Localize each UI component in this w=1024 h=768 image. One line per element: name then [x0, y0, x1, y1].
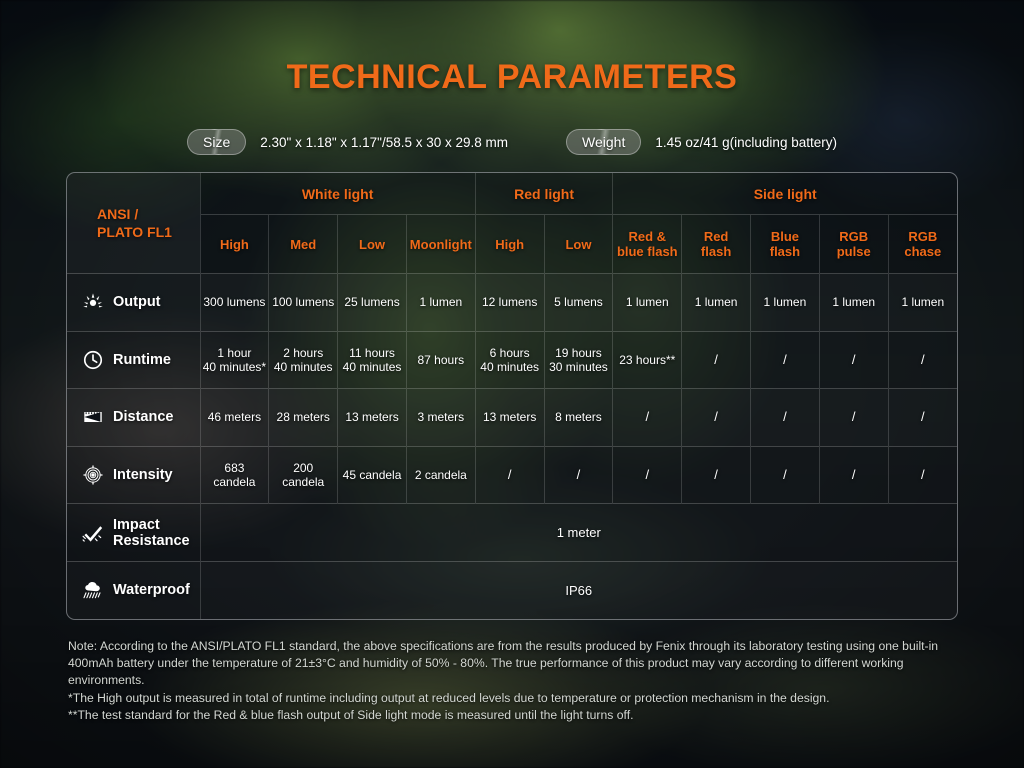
beam-distance-icon — [82, 406, 104, 428]
rain-cloud-icon — [82, 579, 104, 601]
column-header-6[interactable]: Red &blue flash — [613, 215, 682, 274]
cell-1-0: 1 hour40 minutes* — [200, 331, 269, 389]
cell-0-9: 1 lumen — [819, 274, 888, 332]
column-header-7[interactable]: Redflash — [682, 215, 751, 274]
weight-pill: Weight — [566, 129, 641, 155]
specs-strip: Size 2.30" x 1.18" x 1.17"/58.5 x 30 x 2… — [0, 129, 1024, 155]
cell-0-0: 300 lumens — [200, 274, 269, 332]
table-row: Distance46 meters28 meters13 meters3 met… — [67, 389, 957, 447]
weight-value: 1.45 oz/41 g(including battery) — [655, 135, 837, 150]
row-label-text: Output — [113, 294, 161, 310]
page-title: TECHNICAL PARAMETERS — [0, 58, 1024, 97]
technical-parameters-page: TECHNICAL PARAMETERS Size 2.30" x 1.18" … — [0, 0, 1024, 768]
cell-2-5: 8 meters — [544, 389, 613, 447]
row-label-text: Distance — [113, 409, 173, 425]
row-label-text: Runtime — [113, 352, 171, 368]
cell-3-1: 200candela — [269, 446, 338, 504]
parameters-table: ANSI /PLATO FL1White lightRed lightSide … — [67, 173, 957, 619]
column-header-8[interactable]: Blueflash — [751, 215, 820, 274]
cell-1-5: 19 hours30 minutes — [544, 331, 613, 389]
target-icon — [82, 464, 104, 486]
cell-0-10: 1 lumen — [888, 274, 957, 332]
group-header-1: Red light — [475, 173, 613, 215]
cell-3-3: 2 candela — [406, 446, 475, 504]
cell-3-8: / — [751, 446, 820, 504]
full-row-value-1: IP66 — [200, 561, 957, 619]
cell-3-9: / — [819, 446, 888, 504]
cell-0-2: 25 lumens — [338, 274, 407, 332]
row-label-text: Intensity — [113, 467, 173, 483]
size-pill: Size — [187, 129, 246, 155]
cell-0-5: 5 lumens — [544, 274, 613, 332]
column-header-4[interactable]: High — [475, 215, 544, 274]
cell-3-10: / — [888, 446, 957, 504]
cell-1-4: 6 hours40 minutes — [475, 331, 544, 389]
footnote-line-2: *The High output is measured in total of… — [68, 690, 968, 707]
cell-0-1: 100 lumens — [269, 274, 338, 332]
clock-icon — [82, 349, 104, 371]
parameters-table-panel: ANSI /PLATO FL1White lightRed lightSide … — [66, 172, 958, 620]
full-row-value-0: 1 meter — [200, 504, 957, 562]
table-header-groups: ANSI /PLATO FL1White lightRed lightSide … — [67, 173, 957, 215]
row-label-intensity: Intensity — [67, 446, 200, 504]
ansi-plato-label: ANSI /PLATO FL1 — [67, 173, 200, 274]
row-label-text: Waterproof — [113, 582, 190, 598]
row-label-waterproof: Waterproof — [67, 561, 200, 619]
cell-1-9: / — [819, 331, 888, 389]
cell-1-1: 2 hours40 minutes — [269, 331, 338, 389]
footnote-line-1: Note: According to the ANSI/PLATO FL1 st… — [68, 638, 968, 690]
row-label-distance: Distance — [67, 389, 200, 447]
cell-3-7: / — [682, 446, 751, 504]
cell-0-3: 1 lumen — [406, 274, 475, 332]
table-row: Intensity683candela200candela45 candela2… — [67, 446, 957, 504]
cell-1-7: / — [682, 331, 751, 389]
footnote-line-3: **The test standard for the Red & blue f… — [68, 707, 968, 724]
cell-1-2: 11 hours40 minutes — [338, 331, 407, 389]
size-value: 2.30" x 1.18" x 1.17"/58.5 x 30 x 29.8 m… — [260, 135, 508, 150]
table-row: ImpactResistance1 meter — [67, 504, 957, 562]
cell-2-2: 13 meters — [338, 389, 407, 447]
cell-1-10: / — [888, 331, 957, 389]
table-header-columns: HighMedLowMoonlightHighLowRed &blue flas… — [67, 215, 957, 274]
cell-1-3: 87 hours — [406, 331, 475, 389]
column-header-10[interactable]: RGBchase — [888, 215, 957, 274]
cell-1-8: / — [751, 331, 820, 389]
row-label-text: ImpactResistance — [113, 517, 190, 549]
column-header-9[interactable]: RGBpulse — [819, 215, 888, 274]
cell-2-6: / — [613, 389, 682, 447]
cell-0-7: 1 lumen — [682, 274, 751, 332]
cell-2-3: 3 meters — [406, 389, 475, 447]
cell-3-6: / — [613, 446, 682, 504]
column-header-1[interactable]: Med — [269, 215, 338, 274]
group-header-2: Side light — [613, 173, 957, 215]
cell-3-0: 683candela — [200, 446, 269, 504]
cell-2-7: / — [682, 389, 751, 447]
row-label-runtime: Runtime — [67, 331, 200, 389]
table-row: Output300 lumens100 lumens25 lumens1 lum… — [67, 274, 957, 332]
column-header-5[interactable]: Low — [544, 215, 613, 274]
cell-3-4: / — [475, 446, 544, 504]
footnote-block: Note: According to the ANSI/PLATO FL1 st… — [68, 638, 968, 724]
column-header-2[interactable]: Low — [338, 215, 407, 274]
sunburst-icon — [82, 291, 104, 313]
table-row: Runtime1 hour40 minutes*2 hours40 minute… — [67, 331, 957, 389]
cell-0-8: 1 lumen — [751, 274, 820, 332]
weight-spec: Weight 1.45 oz/41 g(including battery) — [566, 129, 837, 155]
cell-2-9: / — [819, 389, 888, 447]
cell-2-1: 28 meters — [269, 389, 338, 447]
table-row: WaterproofIP66 — [67, 561, 957, 619]
cell-2-8: / — [751, 389, 820, 447]
impact-check-icon — [82, 522, 104, 544]
cell-1-6: 23 hours** — [613, 331, 682, 389]
cell-3-5: / — [544, 446, 613, 504]
cell-0-6: 1 lumen — [613, 274, 682, 332]
row-label-output: Output — [67, 274, 200, 332]
cell-0-4: 12 lumens — [475, 274, 544, 332]
group-header-0: White light — [200, 173, 475, 215]
cell-3-2: 45 candela — [338, 446, 407, 504]
cell-2-0: 46 meters — [200, 389, 269, 447]
column-header-3[interactable]: Moonlight — [406, 215, 475, 274]
size-spec: Size 2.30" x 1.18" x 1.17"/58.5 x 30 x 2… — [187, 129, 508, 155]
column-header-0[interactable]: High — [200, 215, 269, 274]
cell-2-4: 13 meters — [475, 389, 544, 447]
row-label-impact-resistance: ImpactResistance — [67, 504, 200, 562]
cell-2-10: / — [888, 389, 957, 447]
